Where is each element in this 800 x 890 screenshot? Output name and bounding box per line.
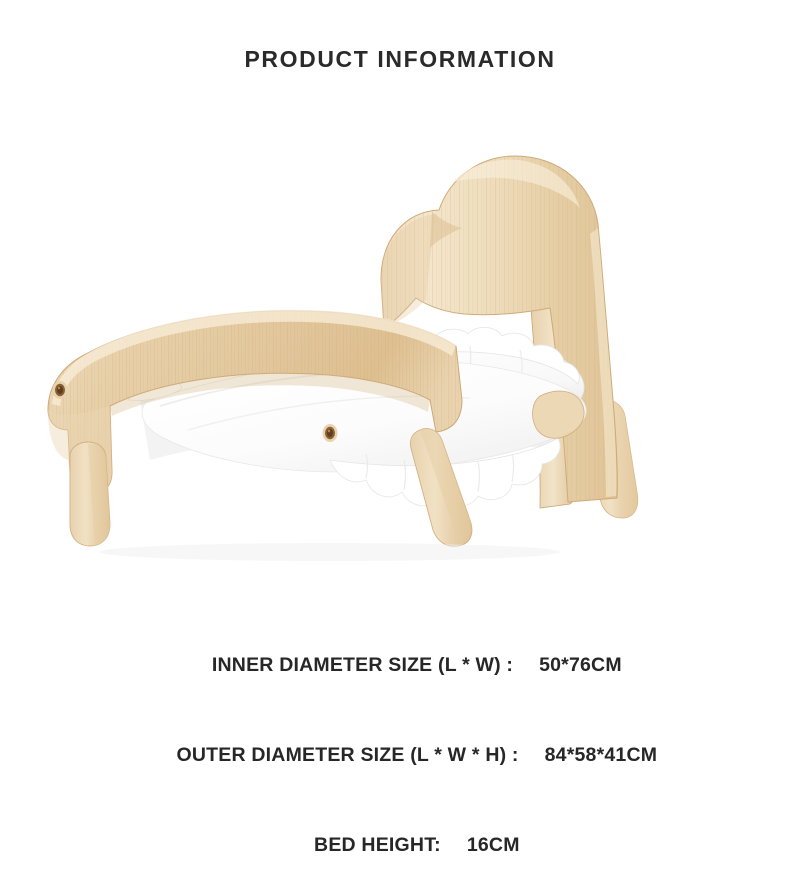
spec-row-inner-diameter: INNER DIAMETER SIZE (L * W) :50*76CM bbox=[0, 620, 800, 710]
specification-list: INNER DIAMETER SIZE (L * W) :50*76CM OUT… bbox=[0, 620, 800, 890]
spec-value-inner-diameter: 50*76CM bbox=[539, 654, 622, 676]
spec-label-bed-height: BED HEIGHT: bbox=[314, 834, 441, 856]
page-title: PRODUCT INFORMATION bbox=[244, 46, 555, 73]
spec-row-outer-diameter: OUTER DIAMETER SIZE (L * W * H) :84*58*4… bbox=[0, 710, 800, 800]
screw-fitting-right bbox=[323, 424, 338, 442]
spec-row-bed-height: BED HEIGHT:16CM bbox=[0, 800, 800, 890]
product-information-page: PRODUCT INFORMATION bbox=[0, 0, 800, 800]
spec-value-bed-height: 16CM bbox=[467, 834, 520, 856]
product-image bbox=[0, 100, 800, 570]
spec-value-outer-diameter: 84*58*41CM bbox=[545, 744, 658, 766]
bed-illustration bbox=[0, 100, 800, 570]
spec-label-outer-diameter: OUTER DIAMETER SIZE (L * W * H) : bbox=[177, 744, 519, 766]
screw-fitting-left bbox=[53, 381, 68, 399]
page-title-band: PRODUCT INFORMATION bbox=[0, 46, 800, 73]
spec-label-inner-diameter: INNER DIAMETER SIZE (L * W) : bbox=[212, 654, 513, 676]
